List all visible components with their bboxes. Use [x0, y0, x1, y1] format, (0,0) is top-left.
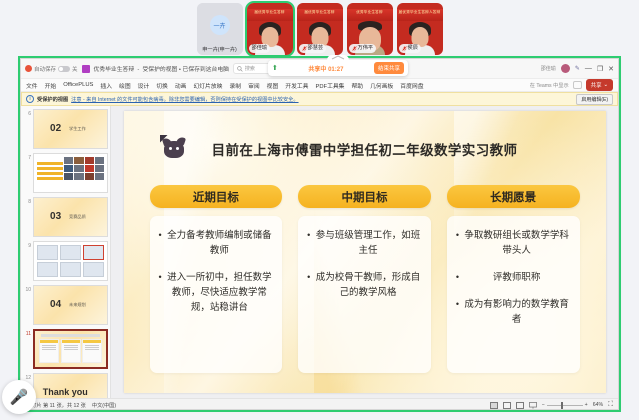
- warning-text[interactable]: 注意 - 来自 Internet 的文件可能包含病毒。除非您需要编辑，否则保持在…: [71, 96, 298, 103]
- menu-item-transitions[interactable]: 切换: [156, 81, 168, 90]
- menu-item-record[interactable]: 录制: [229, 81, 241, 90]
- thumb-big-text: 02: [50, 123, 61, 134]
- participant-tile-1[interactable]: 届优秀毕业生答辩 邵佳瑜: [247, 3, 293, 55]
- restore-button[interactable]: ❐: [597, 65, 603, 73]
- thumb-small-text: 学生工作: [69, 126, 86, 132]
- column-body: 参与班级管理工作，如班主任 成为校骨干教师，形成自己的教学风格: [298, 216, 431, 373]
- slide-number: 12: [23, 373, 31, 381]
- bullet-item: 成为校骨干教师，形成自己的教学风格: [307, 270, 422, 300]
- slide-title[interactable]: 目前在上海市傅雷中学担任初二年级数学实习教师: [124, 139, 606, 159]
- mic-muted-icon: [402, 46, 407, 51]
- thumb-small-text: 未来规划: [69, 302, 86, 308]
- column-header: 长期愿景: [447, 185, 580, 208]
- share-control-bar: ⬆ 共享中 01:27 结束共享: [268, 60, 408, 76]
- avatar-initials: 一卉: [210, 15, 230, 35]
- slide-number: 8: [23, 197, 31, 205]
- zoom-level-label[interactable]: 64%: [593, 402, 603, 408]
- comment-icon[interactable]: [573, 81, 582, 89]
- column-header: 中期目标: [298, 185, 431, 208]
- bullet-item: 全力备考教师编制或储备教师: [159, 228, 274, 258]
- account-name: 邵佳瑜: [541, 65, 556, 72]
- participant-label: 邵佳瑜: [249, 44, 271, 53]
- participant-label: 邵慧芸: [299, 44, 327, 53]
- search-icon: [237, 66, 243, 72]
- current-slide[interactable]: 目前在上海市傅雷中学担任初二年级数学实习教师 近期目标 全力备考教师编制或储备教…: [124, 111, 606, 393]
- zoom-slider[interactable]: − +: [542, 402, 588, 408]
- normal-view-icon[interactable]: [490, 402, 498, 409]
- menu-item-pdf-tools[interactable]: PDF工具集: [315, 81, 344, 90]
- save-icon[interactable]: [82, 65, 90, 73]
- thumb-certificate-grid: [37, 245, 104, 277]
- participant-label: 万伟平: [349, 44, 377, 53]
- column-body: 争取教研组长或数学学科带头人 评教师职称 成为有影响力的数学教育者: [447, 216, 580, 373]
- menu-item-baidu-netdisk[interactable]: 百度网盘: [400, 81, 423, 90]
- protected-view-bar: i 受保护的视图 注意 - 来自 Internet 的文件可能包含病毒。除非您需…: [21, 92, 618, 106]
- slide-thumbnail[interactable]: [33, 241, 108, 281]
- slide-thumbnail-selected[interactable]: [33, 329, 108, 369]
- menu-item-developer[interactable]: 开发工具: [285, 81, 308, 90]
- thumb-goals-layout: [37, 333, 104, 365]
- mic-muted-icon: [302, 46, 307, 51]
- share-button[interactable]: 共享 ⌄: [586, 79, 613, 91]
- autosave-toggle[interactable]: 自动保存 关: [25, 65, 78, 73]
- participant-tile-0[interactable]: 一卉 申一卉(申一卉): [197, 3, 243, 55]
- collapse-handle[interactable]: [327, 55, 349, 60]
- slide-thumbnail[interactable]: 04 未来规划: [33, 285, 108, 325]
- thumb-title-bar: [41, 334, 100, 337]
- column-body: 全力备考教师编制或储备教师 进入一所初中，担任数学教师，尽快适应教学常规，站稳讲…: [150, 216, 283, 373]
- teams-label[interactable]: 在 Teams 中显示: [530, 82, 569, 89]
- thumbnail-row-11[interactable]: 11: [23, 329, 108, 369]
- thumb-small-text: 竞赛品质: [69, 214, 86, 220]
- participant-tile-2[interactable]: 届优秀毕业生答辩 邵慧芸: [297, 3, 343, 55]
- slide-canvas-area: 目前在上海市傅雷中学担任初二年级数学实习教师 近期目标 全力备考教师编制或储备教…: [111, 106, 618, 398]
- enable-editing-button[interactable]: 启用编辑(E): [576, 94, 613, 105]
- goal-column-long-term[interactable]: 长期愿景 争取教研组长或数学学科带头人 评教师职称 成为有影响力的数学教育者: [447, 185, 580, 373]
- warning-title: 受保护的视图: [37, 96, 68, 103]
- participant-name: 申一卉(申一卉): [197, 46, 243, 53]
- column-header: 近期目标: [150, 185, 283, 208]
- thumbnail-row-10[interactable]: 10 04 未来规划: [23, 285, 108, 325]
- participant-filmstrip: 一卉 申一卉(申一卉) 届优秀毕业生答辩 邵佳瑜 届优秀毕业生答辩: [0, 0, 639, 58]
- sorter-view-icon[interactable]: [503, 402, 511, 409]
- menu-item-view[interactable]: 视图: [267, 81, 279, 90]
- participant-tile-3[interactable]: 优秀毕业生答辩 万伟平: [347, 3, 393, 55]
- screen-root: 一卉 申一卉(申一卉) 届优秀毕业生答辩 邵佳瑜 届优秀毕业生答辩: [0, 0, 639, 420]
- slide-number: 9: [23, 241, 31, 249]
- ribbon-tabs: 文件 开始 OfficePLUS 插入 绘图 设计 切换 动画 幻灯片放映 录制…: [21, 79, 618, 92]
- mic-muted-icon: [352, 46, 357, 51]
- goal-column-mid-term[interactable]: 中期目标 参与班级管理工作，如班主任 成为校骨干教师，形成自己的教学风格: [298, 185, 431, 373]
- thumbnail-row-7[interactable]: 7: [23, 153, 108, 193]
- thumb-big-text: 04: [50, 299, 61, 310]
- autosave-switch[interactable]: [58, 66, 70, 72]
- thumbnail-row-9[interactable]: 9: [23, 241, 108, 281]
- menu-item-home[interactable]: 开始: [45, 81, 57, 90]
- slide-number: 11: [23, 329, 31, 337]
- banner-text: 届优秀毕业生答辩: [247, 10, 293, 15]
- status-bar: 幻灯片 第 11 张，共 12 张 中文(中国) − + 64% ⛶: [21, 398, 618, 410]
- menu-item-slideshow[interactable]: 幻灯片放映: [193, 81, 222, 90]
- menu-item-help[interactable]: 帮助: [351, 81, 363, 90]
- slide-number: 7: [23, 153, 31, 161]
- avatar[interactable]: [561, 64, 570, 73]
- fit-slide-icon[interactable]: ⛶: [608, 401, 613, 409]
- participant-label: 侯辰: [399, 44, 421, 53]
- thumb-columns: [39, 339, 102, 363]
- slide-thumbnail[interactable]: 02 学生工作: [33, 109, 108, 149]
- zoom-out-button[interactable]: −: [542, 402, 545, 408]
- status-right: − + 64% ⛶: [490, 401, 613, 409]
- menu-item-design[interactable]: 设计: [138, 81, 150, 90]
- microphone-icon: 🎤: [10, 388, 29, 406]
- bullet-item: 成为有影响力的数学教育者: [456, 297, 571, 327]
- window-controls: 邵佳瑜 ✎ — ❐ ✕: [541, 64, 614, 73]
- document-name: 优秀毕业生答辩 - 受保护的视图 • 已保存到这台电脑: [94, 64, 229, 73]
- slide-number: 10: [23, 285, 31, 293]
- close-button[interactable]: ✕: [608, 65, 614, 73]
- banner-text: 优秀毕业生答辩: [347, 10, 393, 15]
- search-placeholder: 搜索: [245, 65, 255, 72]
- slide-thumbnail[interactable]: 03 竞赛品质: [33, 197, 108, 237]
- menu-item-geometry[interactable]: 几何画板: [370, 81, 393, 90]
- slide-thumbnail-pane[interactable]: 6 02 学生工作 7 8: [21, 106, 111, 398]
- reading-view-icon[interactable]: [516, 402, 524, 409]
- goal-columns: 近期目标 全力备考教师编制或储备教师 进入一所初中，担任数学教师，尽快适应教学常…: [150, 185, 580, 373]
- powerpoint-window: 自动保存 关 优秀毕业生答辩 - 受保护的视图 • 已保存到这台电脑 搜索 邵佳…: [20, 58, 619, 410]
- editor-body: 6 02 学生工作 7 8: [21, 106, 618, 398]
- pen-icon[interactable]: ✎: [575, 65, 580, 72]
- menu-item-animations[interactable]: 动画: [175, 81, 187, 90]
- participant-name: 邵慧芸: [308, 45, 324, 52]
- bullet-item: 争取教研组长或数学学科带头人: [456, 228, 571, 258]
- goal-column-near-term[interactable]: 近期目标 全力备考教师编制或储备教师 进入一所初中，担任数学教师，尽快适应教学常…: [150, 185, 283, 373]
- participant-name: 邵佳瑜: [252, 45, 268, 52]
- menu-item-draw[interactable]: 绘图: [119, 81, 131, 90]
- menu-item-officeplus[interactable]: OfficePLUS: [63, 82, 93, 88]
- slideshow-icon[interactable]: [529, 402, 537, 409]
- slide-number: 6: [23, 109, 31, 117]
- zoom-track[interactable]: [547, 405, 583, 406]
- menu-item-review[interactable]: 审阅: [248, 81, 260, 90]
- banner-text: 届优秀毕业生答辩: [297, 10, 343, 15]
- autosave-state: 关: [72, 65, 78, 73]
- minimize-button[interactable]: —: [585, 65, 592, 72]
- thumbnail-row-6[interactable]: 6 02 学生工作: [23, 109, 108, 149]
- participant-tile-4[interactable]: 届优秀毕业生答辩人答辩 侯辰: [397, 3, 443, 55]
- menu-item-insert[interactable]: 插入: [100, 81, 112, 90]
- menu-item-file[interactable]: 文件: [26, 81, 38, 90]
- bullet-item: 参与班级管理工作，如班主任: [307, 228, 422, 258]
- autosave-label: 自动保存: [34, 65, 56, 73]
- thumbnail-row-8[interactable]: 8 03 竞赛品质: [23, 197, 108, 237]
- thumb-big-text: Thank you: [43, 387, 88, 397]
- thumb-photo-grid: [64, 157, 104, 189]
- slide-thumbnail[interactable]: [33, 153, 108, 193]
- participant-name: 侯辰: [408, 45, 418, 52]
- slide-thumbnail[interactable]: Thank you 感谢您的聆听: [33, 373, 108, 398]
- end-share-button[interactable]: 结束共享: [374, 62, 404, 74]
- upload-icon[interactable]: ⬆: [272, 64, 278, 72]
- thumb-big-text: 03: [50, 211, 61, 222]
- info-icon: i: [26, 95, 34, 103]
- language-label: 中文(中国): [92, 402, 116, 409]
- thumb-bars: [37, 162, 63, 182]
- participant-name: 万伟平: [358, 45, 374, 52]
- banner-text: 届优秀毕业生答辩人答辩: [397, 10, 443, 15]
- ribbon-right: 在 Teams 中显示 共享 ⌄: [530, 79, 613, 91]
- bullet-item: 进入一所初中，担任数学教师，尽快适应教学常规，站稳讲台: [159, 270, 274, 315]
- share-button-label: 共享: [591, 81, 602, 89]
- zoom-in-button[interactable]: +: [585, 402, 588, 408]
- bullet-item: 评教师职称: [456, 270, 571, 285]
- autosave-dot: [25, 65, 32, 72]
- microphone-button[interactable]: 🎤: [2, 380, 36, 414]
- chevron-down-icon: ⌄: [603, 82, 608, 88]
- avatar: 一卉 申一卉(申一卉): [197, 3, 243, 55]
- share-status: 共享中 01:27: [282, 64, 370, 73]
